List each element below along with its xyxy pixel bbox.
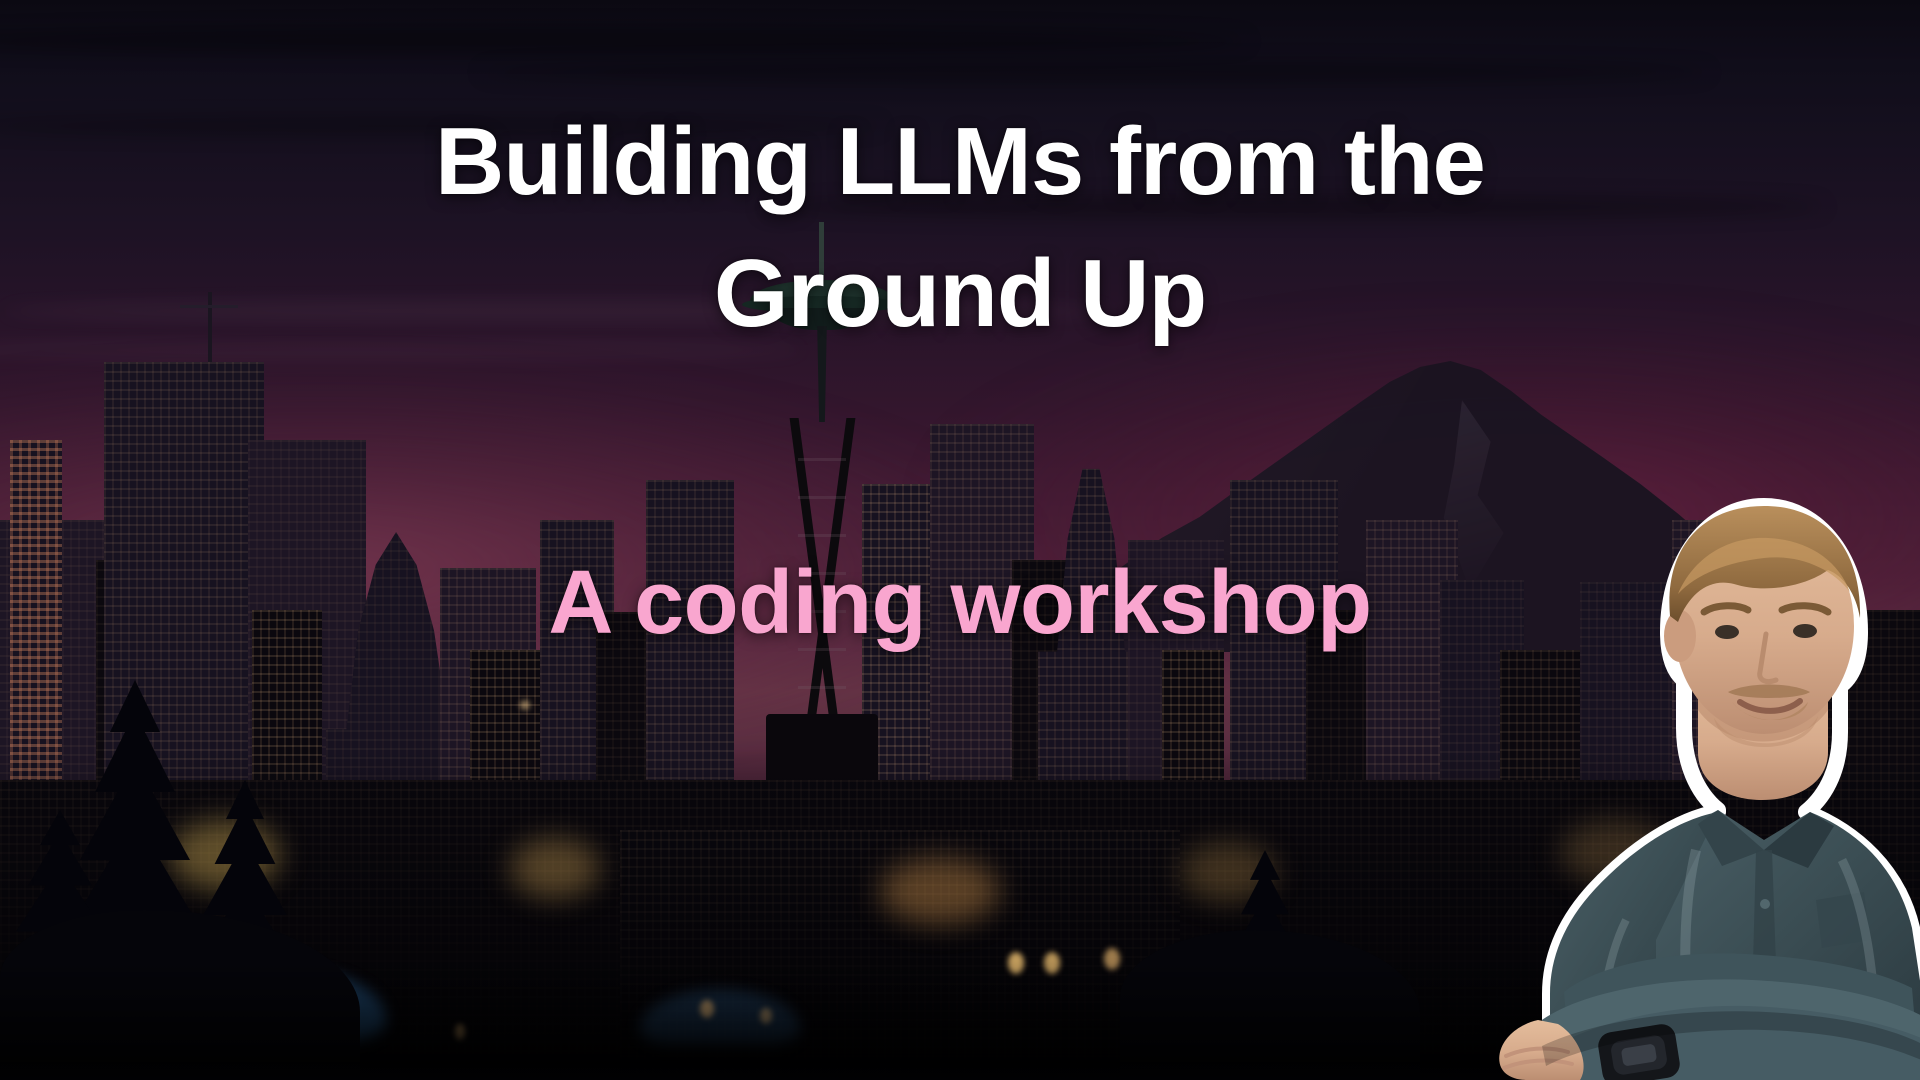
- presenter-cutout: [1446, 380, 1920, 1080]
- city-light-glow: [880, 858, 1000, 924]
- space-needle-rung: [798, 496, 846, 499]
- space-needle-rung: [798, 686, 846, 689]
- space-needle-rung: [798, 458, 846, 461]
- presenter-white-outline: [1446, 380, 1920, 1080]
- space-needle-rung: [798, 534, 846, 537]
- city-light-glow: [510, 838, 600, 898]
- thumbnail-slide: Building LLMs from the Ground Up A codin…: [0, 0, 1920, 1080]
- window-light: [520, 700, 530, 710]
- page-title: Building LLMs from the Ground Up: [0, 96, 1920, 361]
